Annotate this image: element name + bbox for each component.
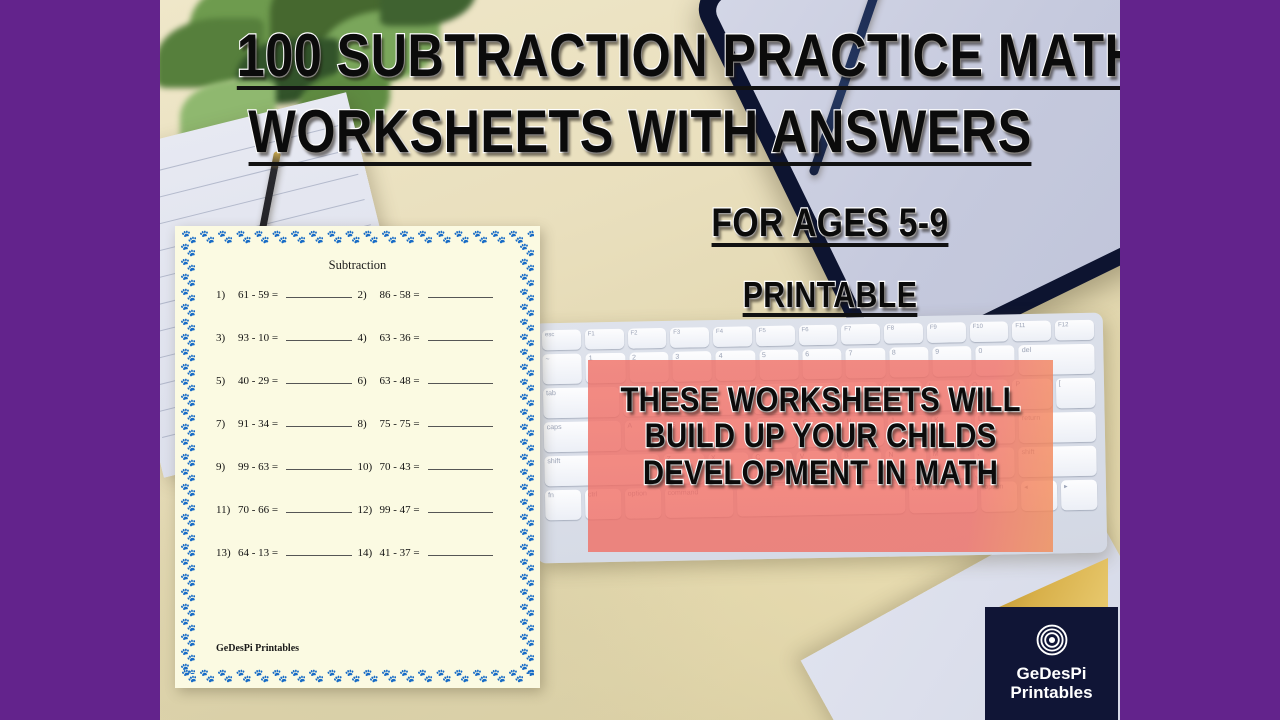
bullseye-icon bbox=[1035, 623, 1069, 657]
problem-number: 11) bbox=[216, 504, 238, 516]
printable-text: PRINTABLE bbox=[743, 277, 918, 317]
problem-item: 2)86 - 58 = bbox=[358, 287, 500, 301]
badge-name-line-1: GeDesPi bbox=[1017, 664, 1087, 683]
answer-blank[interactable] bbox=[286, 330, 351, 341]
paw-border-bottom: 🐾🐾🐾🐾🐾🐾🐾🐾🐾🐾🐾🐾🐾🐾🐾🐾🐾🐾🐾🐾🐾🐾🐾🐾 bbox=[181, 669, 534, 685]
answer-blank[interactable] bbox=[428, 287, 493, 298]
problem-expression: 41 - 37 = bbox=[380, 547, 420, 559]
problem-number: 4) bbox=[358, 332, 380, 344]
worksheet-title: Subtraction bbox=[190, 258, 525, 273]
answer-blank[interactable] bbox=[428, 416, 493, 427]
title-line-1-text: 100 SUBTRACTION PRACTICE MATH bbox=[237, 26, 1141, 90]
problem-item: 5)40 - 29 = bbox=[216, 373, 358, 387]
problem-row: 7)91 - 34 =8)75 - 75 = bbox=[216, 416, 499, 430]
problem-number: 10) bbox=[358, 461, 380, 473]
promo-line-3: DEVELOPMENT IN MATH bbox=[621, 455, 1021, 491]
problem-expression: 75 - 75 = bbox=[380, 418, 420, 430]
problem-expression: 61 - 59 = bbox=[238, 289, 278, 301]
problem-item: 1)61 - 59 = bbox=[216, 287, 358, 301]
problem-number: 14) bbox=[358, 547, 380, 559]
answer-blank[interactable] bbox=[428, 459, 493, 470]
problem-item: 3)93 - 10 = bbox=[216, 330, 358, 344]
problem-number: 1) bbox=[216, 289, 238, 301]
age-range-text: FOR AGES 5-9 bbox=[711, 203, 948, 247]
problem-number: 5) bbox=[216, 375, 238, 387]
problem-list: 1)61 - 59 =2)86 - 58 =3)93 - 10 =4)63 - … bbox=[216, 287, 499, 559]
age-range-line: FOR AGES 5-9 bbox=[637, 203, 1023, 247]
title-line-2-text: WORKSHEETS WITH ANSWERS bbox=[248, 102, 1031, 166]
problem-expression: 99 - 63 = bbox=[238, 461, 278, 473]
badge-name-line-2: Printables bbox=[1010, 683, 1092, 702]
problem-number: 3) bbox=[216, 332, 238, 344]
printable-line: PRINTABLE bbox=[670, 277, 989, 317]
answer-blank[interactable] bbox=[286, 459, 351, 470]
worksheet-credit: GeDesPi Printables bbox=[216, 643, 299, 654]
right-purple-bar bbox=[1120, 0, 1280, 720]
brand-badge: GeDesPi Printables bbox=[985, 607, 1118, 720]
problem-row: 13)64 - 13 =14)41 - 37 = bbox=[216, 545, 499, 559]
problem-row: 5)40 - 29 =6)63 - 48 = bbox=[216, 373, 499, 387]
problem-item: 14)41 - 37 = bbox=[358, 545, 500, 559]
answer-blank[interactable] bbox=[428, 330, 493, 341]
promo-text-block: THESE WORKSHEETS WILL BUILD UP YOUR CHIL… bbox=[588, 382, 1053, 491]
problem-expression: 40 - 29 = bbox=[238, 375, 278, 387]
answer-blank[interactable] bbox=[286, 373, 351, 384]
problem-expression: 70 - 66 = bbox=[238, 504, 278, 516]
problem-item: 11)70 - 66 = bbox=[216, 502, 358, 516]
paw-border-top: 🐾🐾🐾🐾🐾🐾🐾🐾🐾🐾🐾🐾🐾🐾🐾🐾🐾🐾🐾🐾🐾🐾🐾🐾 bbox=[181, 230, 534, 246]
answer-blank[interactable] bbox=[428, 545, 493, 556]
subtraction-worksheet: 🐾🐾🐾🐾🐾🐾🐾🐾🐾🐾🐾🐾🐾🐾🐾🐾🐾🐾🐾🐾🐾🐾🐾🐾 🐾🐾🐾🐾🐾🐾🐾🐾🐾🐾🐾🐾🐾🐾🐾… bbox=[175, 226, 540, 688]
answer-blank[interactable] bbox=[286, 502, 351, 513]
problem-row: 3)93 - 10 =4)63 - 36 = bbox=[216, 330, 499, 344]
paw-border-right: 🐾🐾🐾🐾🐾🐾🐾🐾🐾🐾🐾🐾🐾🐾🐾🐾🐾🐾🐾🐾🐾🐾🐾🐾🐾🐾🐾🐾🐾 bbox=[519, 242, 535, 674]
title-line-1: 100 SUBTRACTION PRACTICE MATH bbox=[237, 26, 1043, 90]
problem-row: 1)61 - 59 =2)86 - 58 = bbox=[216, 287, 499, 301]
problem-number: 8) bbox=[358, 418, 380, 430]
problem-row: 9)99 - 63 =10)70 - 43 = bbox=[216, 459, 499, 473]
problem-expression: 86 - 58 = bbox=[380, 289, 420, 301]
problem-item: 13)64 - 13 = bbox=[216, 545, 358, 559]
answer-blank[interactable] bbox=[286, 545, 351, 556]
answer-blank[interactable] bbox=[428, 502, 493, 513]
thumbnail-canvas: escF1F2F3 F4F5F6F7 F8F9F10F11 F12 ~123 4… bbox=[0, 0, 1280, 720]
title-line-2: WORKSHEETS WITH ANSWERS bbox=[237, 102, 1043, 166]
problem-expression: 63 - 36 = bbox=[380, 332, 420, 344]
problem-number: 13) bbox=[216, 547, 238, 559]
problem-number: 12) bbox=[358, 504, 380, 516]
problem-expression: 64 - 13 = bbox=[238, 547, 278, 559]
problem-expression: 91 - 34 = bbox=[238, 418, 278, 430]
problem-item: 7)91 - 34 = bbox=[216, 416, 358, 430]
problem-item: 9)99 - 63 = bbox=[216, 459, 358, 473]
problem-row: 11)70 - 66 =12)99 - 47 = bbox=[216, 502, 499, 516]
problem-expression: 63 - 48 = bbox=[380, 375, 420, 387]
problem-number: 2) bbox=[358, 289, 380, 301]
problem-expression: 99 - 47 = bbox=[380, 504, 420, 516]
answer-blank[interactable] bbox=[428, 373, 493, 384]
answer-blank[interactable] bbox=[286, 416, 351, 427]
promo-line-2: BUILD UP YOUR CHILDS bbox=[621, 418, 1021, 454]
promo-line-1: THESE WORKSHEETS WILL bbox=[621, 382, 1021, 418]
problem-expression: 93 - 10 = bbox=[238, 332, 278, 344]
problem-item: 8)75 - 75 = bbox=[358, 416, 500, 430]
problem-item: 4)63 - 36 = bbox=[358, 330, 500, 344]
problem-item: 10)70 - 43 = bbox=[358, 459, 500, 473]
problem-item: 12)99 - 47 = bbox=[358, 502, 500, 516]
problem-item: 6)63 - 48 = bbox=[358, 373, 500, 387]
problem-number: 6) bbox=[358, 375, 380, 387]
paw-border-left: 🐾🐾🐾🐾🐾🐾🐾🐾🐾🐾🐾🐾🐾🐾🐾🐾🐾🐾🐾🐾🐾🐾🐾🐾🐾🐾🐾🐾🐾 bbox=[180, 242, 196, 674]
problem-number: 9) bbox=[216, 461, 238, 473]
left-purple-bar bbox=[0, 0, 160, 720]
answer-blank[interactable] bbox=[286, 287, 351, 298]
problem-expression: 70 - 43 = bbox=[380, 461, 420, 473]
problem-number: 7) bbox=[216, 418, 238, 430]
